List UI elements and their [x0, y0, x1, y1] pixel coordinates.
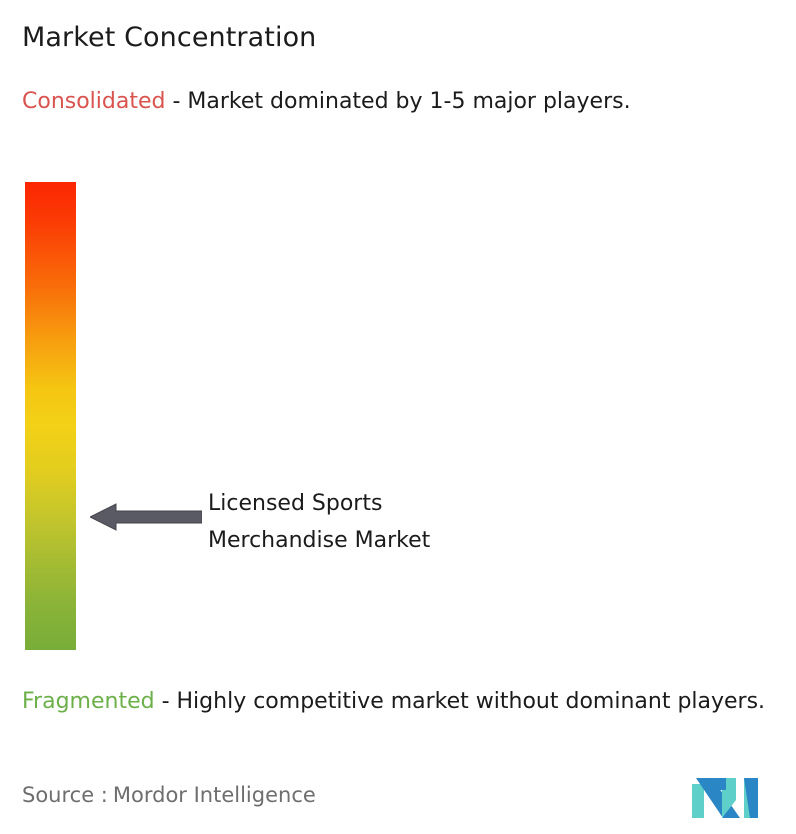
mordor-intelligence-logo-icon: [692, 770, 766, 818]
page-title: Market Concentration: [22, 22, 316, 53]
source-value: Mordor Intelligence: [113, 783, 316, 807]
concentration-gradient-bar: [25, 182, 76, 650]
source-line: Source :Mordor Intelligence: [22, 783, 316, 807]
fragmented-text: - Highly competitive market without domi…: [155, 689, 765, 714]
market-callout-label: Licensed Sports Merchandise Market: [208, 485, 430, 559]
callout-line-2: Merchandise Market: [208, 522, 430, 559]
fragmented-keyword: Fragmented: [22, 689, 155, 714]
market-position-arrow-icon: [90, 502, 202, 532]
consolidated-description: Consolidated - Market dominated by 1-5 m…: [22, 86, 762, 117]
consolidated-keyword: Consolidated: [22, 89, 165, 114]
consolidated-text: - Market dominated by 1-5 major players.: [165, 89, 630, 114]
fragmented-description: Fragmented - Highly competitive market w…: [22, 686, 792, 717]
callout-line-1: Licensed Sports: [208, 485, 430, 522]
source-label: Source :: [22, 783, 108, 807]
